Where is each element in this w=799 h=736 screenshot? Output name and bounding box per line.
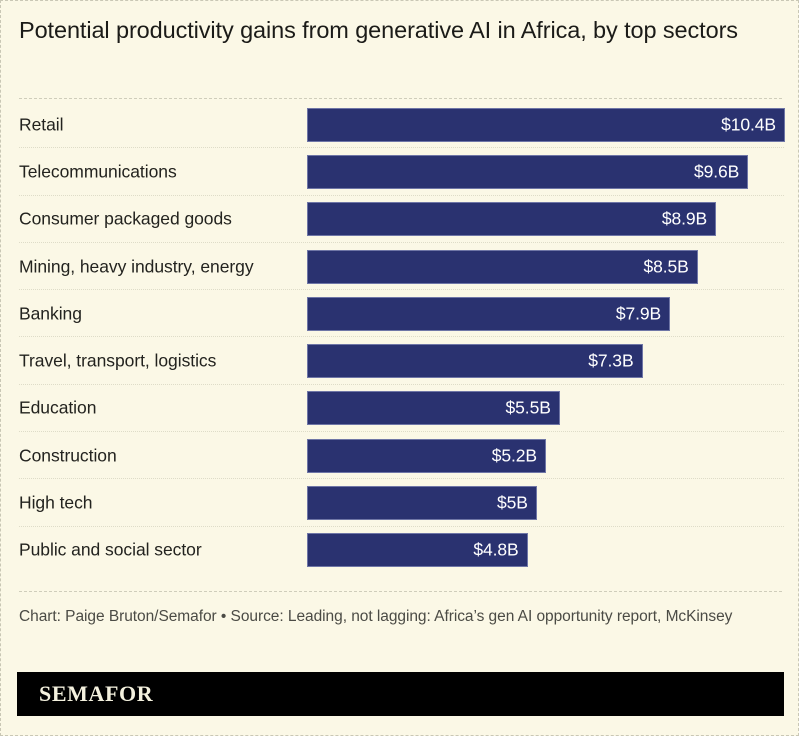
bar-category-label: Construction (19, 445, 117, 466)
bar-value-label: $7.9B (616, 303, 661, 324)
bar-chart-plot-area: Retail$10.4BTelecommunications$9.6BConsu… (1, 101, 799, 579)
bar-value-label: $9.6B (694, 161, 739, 182)
chart-credit: Chart: Paige Bruton/Semafor • Source: Le… (19, 605, 767, 629)
bar[interactable]: $5B (307, 486, 537, 520)
bar-value-label: $7.3B (588, 351, 633, 372)
header-divider (19, 98, 782, 99)
bar-track: $10.4B (307, 108, 785, 142)
bar-row: Public and social sector$4.8B (1, 527, 799, 574)
bar-value-label: $8.9B (662, 209, 707, 230)
bar-track: $5B (307, 486, 537, 520)
bar-category-label: Retail (19, 114, 63, 135)
bar[interactable]: $8.5B (307, 250, 698, 284)
bar[interactable]: $9.6B (307, 155, 748, 189)
bar-track: $7.3B (307, 344, 643, 378)
bar-category-label: Public and social sector (19, 540, 202, 561)
bar-category-label: Mining, heavy industry, energy (19, 256, 254, 277)
bar[interactable]: $7.3B (307, 344, 643, 378)
bar-row: High tech$5B (1, 479, 799, 526)
bar[interactable]: $8.9B (307, 202, 716, 236)
bar-category-label: Banking (19, 303, 82, 324)
bar-row: Banking$7.9B (1, 290, 799, 337)
bar-value-label: $8.5B (643, 256, 688, 277)
bar[interactable]: $4.8B (307, 533, 528, 567)
bar-row: Mining, heavy industry, energy$8.5B (1, 243, 799, 290)
bar[interactable]: $5.5B (307, 391, 560, 425)
bar-track: $7.9B (307, 297, 670, 331)
bar-track: $5.2B (307, 439, 546, 473)
semafor-logo-bar: SEMAFOR (17, 672, 784, 716)
bar-category-label: Consumer packaged goods (19, 209, 232, 230)
bar-category-label: Travel, transport, logistics (19, 351, 216, 372)
bar-row: Construction$5.2B (1, 432, 799, 479)
bar-row: Telecommunications$9.6B (1, 148, 799, 195)
bar-track: $5.5B (307, 391, 560, 425)
semafor-wordmark: SEMAFOR (39, 681, 153, 707)
chart-figure: Potential productivity gains from genera… (0, 0, 799, 736)
page-title: Potential productivity gains from genera… (19, 15, 759, 46)
chart-header: Potential productivity gains from genera… (1, 1, 798, 98)
bar[interactable]: $10.4B (307, 108, 785, 142)
bar[interactable]: $5.2B (307, 439, 546, 473)
bar-value-label: $10.4B (721, 114, 776, 135)
bar-category-label: High tech (19, 493, 92, 514)
bar-track: $9.6B (307, 155, 748, 189)
bar-value-label: $5.2B (492, 445, 537, 466)
bar-row: Retail$10.4B (1, 101, 799, 148)
bar-track: $4.8B (307, 533, 528, 567)
bar-category-label: Telecommunications (19, 161, 177, 182)
bar-value-label: $5.5B (506, 398, 551, 419)
bar-row: Consumer packaged goods$8.9B (1, 196, 799, 243)
footer-divider (19, 591, 782, 592)
bar-row: Travel, transport, logistics$7.3B (1, 337, 799, 384)
bar-track: $8.5B (307, 250, 698, 284)
bar-value-label: $4.8B (473, 540, 518, 561)
bar-track: $8.9B (307, 202, 716, 236)
bar-category-label: Education (19, 398, 96, 419)
bar-row: Education$5.5B (1, 385, 799, 432)
bar-value-label: $5B (497, 493, 528, 514)
bar[interactable]: $7.9B (307, 297, 670, 331)
